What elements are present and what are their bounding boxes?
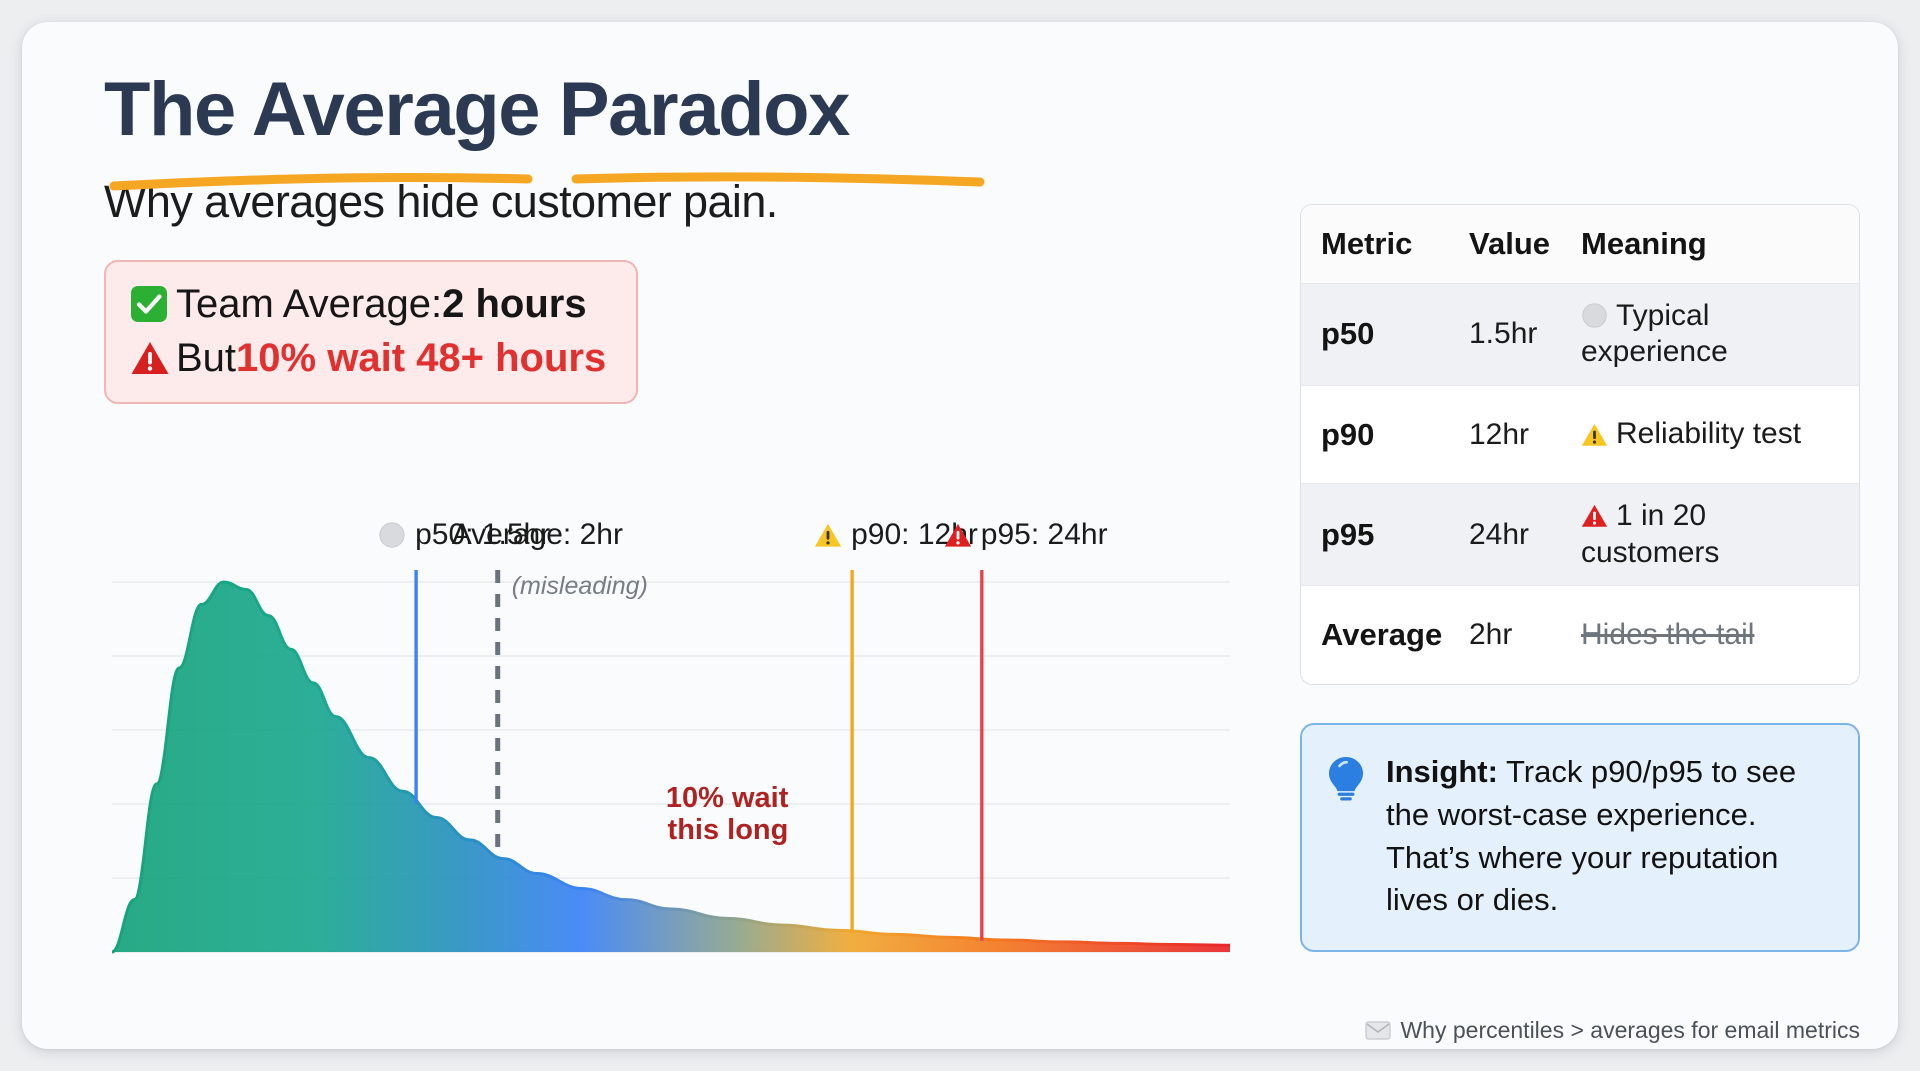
table-cell-value-2: 24hr [1469, 518, 1581, 552]
alert-tail-value: 10% wait 48+ hours [236, 332, 606, 384]
red-alert-triangle-icon [944, 522, 972, 549]
warning-triangle-icon [130, 339, 176, 377]
chart-marker-text-p95: p95: 24hr [981, 518, 1108, 552]
table-row: Average2hrHides the tail [1301, 586, 1859, 684]
footer-note: Why percentiles > averages for email met… [1300, 1017, 1860, 1044]
distribution-chart: p50: 1.5hrAverage: 2hrp90: 12hrp95: 24hr… [104, 518, 1234, 948]
page-title: The Average Paradox [104, 70, 849, 150]
table-cell-meaning-0: Typical experience [1581, 298, 1859, 371]
left-column: The Average Paradox Why averages hide cu… [104, 70, 1234, 1010]
tail-annotation-line1: 10% wait [638, 782, 788, 814]
table-cell-value-3: 2hr [1469, 618, 1581, 652]
tail-annotation: 10% waitthis long [638, 782, 788, 847]
table-cell-meaning-text-3: Hides the tail [1581, 618, 1754, 651]
table-cell-meaning-1: Reliability test [1581, 416, 1859, 453]
alert-tail-prefix: But [176, 332, 236, 384]
insight-text: Insight: Track p90/p95 to see the worst-… [1386, 751, 1832, 922]
metric-table: Metric Value Meaning p501.5hrTypical exp… [1300, 204, 1860, 685]
table-cell-meaning-2: 1 in 20 customers [1581, 498, 1859, 571]
tail-annotation-line2: this long [638, 814, 788, 846]
warning-triangle-icon [1581, 422, 1608, 448]
footer-text: Why percentiles > averages for email met… [1400, 1017, 1860, 1044]
table-header-row: Metric Value Meaning [1301, 205, 1859, 284]
alert-average-prefix: Team Average: [176, 278, 442, 330]
envelope-icon [1365, 1021, 1391, 1040]
column-header-meaning: Meaning [1581, 225, 1859, 263]
table-cell-meaning-3: Hides the tail [1581, 617, 1859, 654]
chart-area-fill [112, 582, 1230, 952]
right-column: Metric Value Meaning p501.5hrTypical exp… [1300, 204, 1860, 952]
infographic-card: The Average Paradox Why averages hide cu… [22, 22, 1898, 1049]
chart-marker-label-p95: p95: 24hr [944, 518, 1108, 552]
table-cell-metric-3: Average [1301, 617, 1469, 653]
red-alert-triangle-icon [1581, 503, 1608, 529]
table-row: p9524hr1 in 20 customers [1301, 484, 1859, 586]
average-misleading-note: (misleading) [512, 572, 648, 601]
alert-callout: Team Average: 2 hours But 10% wait 48+ h… [104, 260, 638, 404]
check-mark-button-icon [130, 285, 176, 323]
title-block: The Average Paradox [104, 70, 849, 150]
table-body: p501.5hrTypical experiencep9012hrReliabi… [1301, 284, 1859, 684]
column-header-metric: Metric [1301, 226, 1469, 262]
warning-triangle-icon [814, 522, 842, 549]
table-cell-metric-2: p95 [1301, 517, 1469, 553]
alert-line-tail: But 10% wait 48+ hours [130, 332, 606, 384]
gray-circle-icon [378, 521, 406, 549]
title-underline-icon [108, 170, 988, 192]
table-cell-metric-1: p90 [1301, 417, 1469, 453]
insight-box: Insight: Track p90/p95 to see the worst-… [1300, 723, 1860, 952]
gray-circle-icon [1581, 302, 1608, 329]
insight-label: Insight: [1386, 754, 1498, 789]
table-cell-metric-0: p50 [1301, 316, 1469, 352]
table-row: p9012hrReliability test [1301, 386, 1859, 484]
table-cell-value-1: 12hr [1469, 418, 1581, 452]
table-cell-value-0: 1.5hr [1469, 317, 1581, 351]
light-bulb-icon [1326, 751, 1370, 922]
column-header-value: Value [1469, 226, 1581, 262]
alert-average-value: 2 hours [442, 278, 586, 330]
chart-marker-label-average: Average: 2hr [452, 518, 623, 552]
chart-marker-labels: p50: 1.5hrAverage: 2hrp90: 12hrp95: 24hr [104, 518, 1234, 564]
table-row: p501.5hrTypical experience [1301, 284, 1859, 386]
table-cell-meaning-text-1: Reliability test [1616, 417, 1801, 450]
alert-line-average: Team Average: 2 hours [130, 278, 606, 330]
chart-marker-text-average: Average: 2hr [452, 518, 623, 552]
chart-plot-area [104, 564, 1234, 964]
